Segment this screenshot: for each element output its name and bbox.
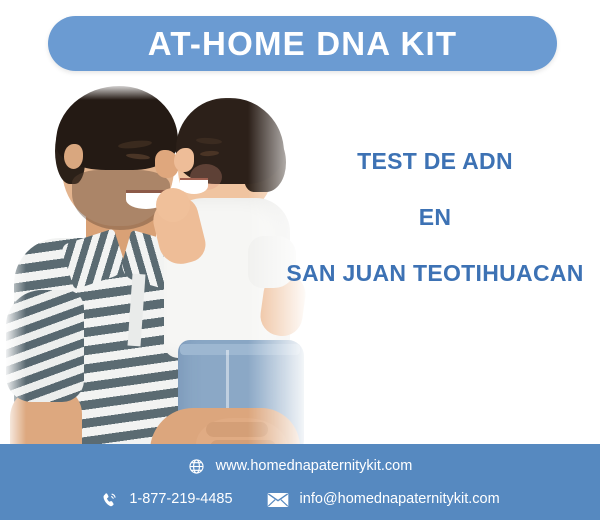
phone-text: 1-877-219-4485 (129, 492, 232, 507)
header-banner: AT-HOME DNA KIT (48, 16, 557, 71)
envelope-icon (267, 492, 289, 508)
headline-block: TEST DE ADN EN SAN JUAN TEOTIHUACAN (276, 150, 594, 285)
footer-row-contact: 1-877-219-4485 info@homednapaternitykit.… (0, 482, 600, 515)
website-text: www.homednapaternitykit.com (216, 459, 413, 474)
headline-line-1: TEST DE ADN (276, 150, 594, 173)
globe-icon (188, 458, 205, 475)
man-ear (64, 144, 83, 169)
child-nose (174, 148, 194, 172)
poster-root: AT-HOME DNA KIT (0, 0, 600, 520)
footer-row-website: www.homednapaternitykit.com (0, 444, 600, 482)
phone-item[interactable]: 1-877-219-4485 (100, 491, 232, 509)
child-hand (156, 188, 190, 222)
footer-bar: www.homednapaternitykit.com 1-877-219-44… (0, 444, 600, 520)
photo-fade-top (0, 78, 318, 100)
photo-fade-left (0, 78, 26, 453)
phone-icon (100, 491, 118, 509)
headline-line-2: EN (276, 206, 594, 229)
page-title: AT-HOME DNA KIT (148, 27, 457, 60)
email-text: info@homednapaternitykit.com (300, 492, 500, 507)
website-item[interactable]: www.homednapaternitykit.com (188, 458, 413, 475)
headline-line-3: SAN JUAN TEOTIHUACAN (276, 262, 594, 285)
hero-photo (0, 78, 318, 453)
email-item[interactable]: info@homednapaternitykit.com (267, 492, 500, 508)
